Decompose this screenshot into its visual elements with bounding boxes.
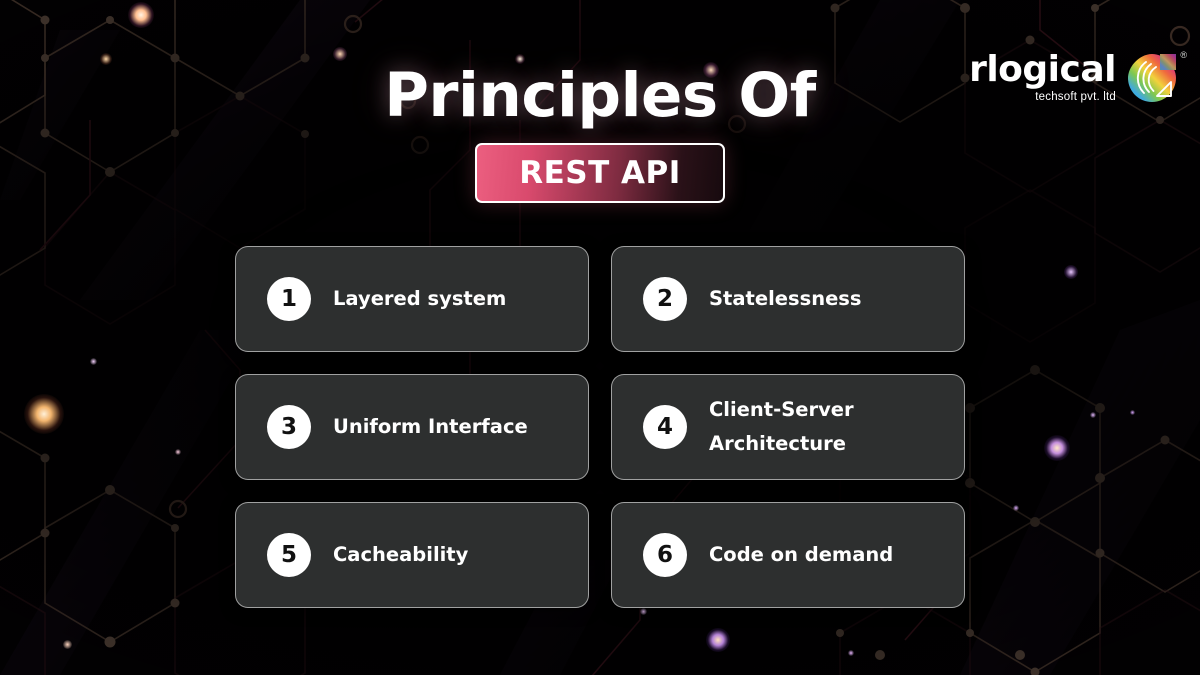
principles-grid: 1 Layered system 2 Statelessness 3 Unifo… xyxy=(235,246,965,608)
principle-number-2: 2 xyxy=(643,277,687,321)
rest-api-badge: REST API xyxy=(475,143,725,203)
registered-trademark-icon: ® xyxy=(1180,50,1187,60)
principle-label-5: Cacheability xyxy=(333,538,468,572)
principle-number-4: 4 xyxy=(643,405,687,449)
principle-number-1: 1 xyxy=(267,277,311,321)
principle-number-3: 3 xyxy=(267,405,311,449)
principle-label-2: Statelessness xyxy=(709,282,862,316)
principle-card-4[interactable]: 4 Client-Server Architecture xyxy=(611,374,965,480)
principle-card-5[interactable]: 5 Cacheability xyxy=(235,502,589,608)
principle-label-6: Code on demand xyxy=(709,538,893,572)
principle-number-5: 5 xyxy=(267,533,311,577)
principle-card-2[interactable]: 2 Statelessness xyxy=(611,246,965,352)
principle-number-6: 6 xyxy=(643,533,687,577)
page-title: Principles Of xyxy=(0,60,1200,131)
principle-card-3[interactable]: 3 Uniform Interface xyxy=(235,374,589,480)
principle-label-1: Layered system xyxy=(333,282,506,316)
principle-label-3: Uniform Interface xyxy=(333,410,528,444)
principle-card-1[interactable]: 1 Layered system xyxy=(235,246,589,352)
rest-api-badge-label: REST API xyxy=(519,155,681,191)
principle-label-4: Client-Server Architecture xyxy=(709,393,854,460)
principle-card-6[interactable]: 6 Code on demand xyxy=(611,502,965,608)
